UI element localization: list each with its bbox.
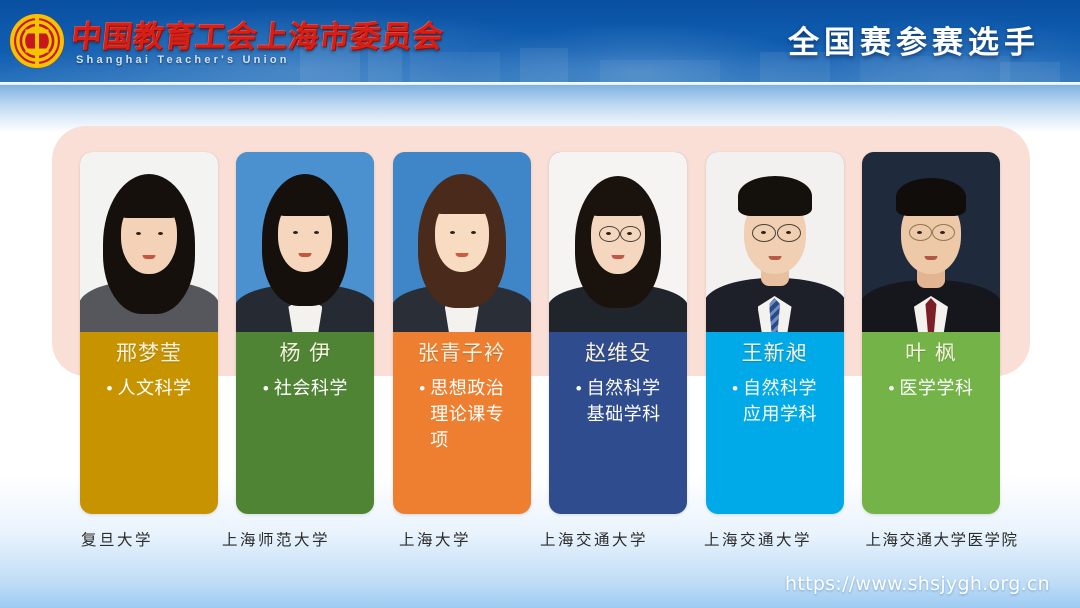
slide-root: 中国教育工会上海市委员会 Shanghai Teacher's Union 全国…	[0, 0, 1080, 608]
bullet-icon: •	[263, 376, 269, 402]
portrait-eye-right	[158, 232, 163, 235]
university-label: 上海交通大学医学院	[842, 528, 1042, 550]
bullet-icon: •	[107, 376, 113, 402]
contestant-card[interactable]: 赵维殳 • 自然科学基础学科	[549, 152, 687, 514]
bullet-icon: •	[732, 376, 738, 402]
footer-website-url[interactable]: https://www.shsjygh.org.cn	[785, 573, 1050, 595]
university-label: 复旦大学	[42, 528, 192, 550]
contestant-category-row: • 社会科学	[259, 376, 352, 402]
portrait-mouth	[612, 255, 625, 259]
portrait-hair-top	[116, 182, 182, 218]
portrait-hair-top	[431, 182, 493, 214]
portrait-hair-top	[274, 182, 336, 216]
skyline-silhouette-8	[1000, 62, 1060, 82]
contestant-photo	[236, 152, 374, 332]
contestant-card[interactable]: 邢梦莹 • 人文科学	[80, 152, 218, 514]
contestant-info: 张青子衿 • 思想政治理论课专项	[393, 332, 531, 514]
bullet-icon: •	[888, 376, 894, 402]
contestant-name: 张青子衿	[418, 341, 506, 365]
portrait-hair-top	[587, 184, 649, 216]
contestant-category-row: • 自然科学应用学科	[728, 376, 821, 428]
union-emblem-svg	[8, 12, 66, 70]
university-label: 上海大学	[360, 528, 510, 550]
portrait-eye-left	[450, 231, 455, 234]
contestant-name: 赵维殳	[585, 341, 651, 365]
portrait-mouth	[455, 253, 468, 257]
skyline-silhouette-5	[600, 60, 720, 82]
contestant-photo	[393, 152, 531, 332]
page-title: 全国赛参赛选手	[788, 17, 1040, 62]
organization-name-en: Shanghai Teacher's Union	[76, 54, 290, 66]
skyline-silhouette-4	[520, 48, 568, 82]
contestant-info: 杨 伊 • 社会科学	[236, 332, 374, 514]
union-emblem-icon	[8, 12, 66, 70]
contestant-photo	[706, 152, 844, 332]
contestant-name: 王新昶	[742, 341, 808, 365]
contestant-name: 杨 伊	[280, 341, 332, 365]
contestant-category-row: • 人文科学	[103, 376, 196, 402]
contestant-name: 叶 枫	[905, 341, 957, 365]
portrait-mouth	[768, 256, 781, 260]
university-label: 上海师范大学	[196, 528, 356, 550]
contestant-category-row: • 思想政治理论课专项	[415, 376, 508, 454]
contestant-info: 王新昶 • 自然科学应用学科	[706, 332, 844, 514]
contestant-category: 自然科学应用学科	[743, 376, 821, 428]
university-label: 上海交通大学	[678, 528, 838, 550]
contestant-photo	[549, 152, 687, 332]
portrait-hair-top	[896, 178, 966, 216]
contestant-category: 社会科学	[274, 376, 352, 402]
portrait-mouth	[299, 253, 312, 257]
portrait-eye-right	[940, 231, 945, 234]
organization-name-cn: 中国教育工会上海市委员会	[70, 14, 446, 54]
bullet-icon: •	[576, 376, 582, 402]
bullet-icon: •	[419, 376, 425, 402]
portrait-hair-top	[738, 176, 812, 216]
portrait-mouth	[143, 255, 156, 259]
contestant-card[interactable]: 叶 枫 • 医学学科	[862, 152, 1000, 514]
contestant-info: 赵维殳 • 自然科学基础学科	[549, 332, 687, 514]
portrait-eye-left	[761, 231, 766, 234]
contestant-category: 自然科学基础学科	[587, 376, 665, 428]
contestant-info: 叶 枫 • 医学学科	[862, 332, 1000, 514]
contestant-name: 邢梦莹	[116, 341, 182, 365]
university-label-list: 复旦大学 上海师范大学 上海大学 上海交通大学 上海交通大学 上海交通大学医学院	[42, 528, 1042, 550]
contestant-photo	[80, 152, 218, 332]
portrait-eye-right	[786, 231, 791, 234]
contestant-card[interactable]: 杨 伊 • 社会科学	[236, 152, 374, 514]
portrait-eye-right	[471, 231, 476, 234]
contestant-card-list: 邢梦莹 • 人文科学 杨 伊	[80, 152, 1000, 514]
skyline-silhouette-3	[410, 52, 500, 82]
contestant-category: 医学学科	[899, 376, 977, 402]
portrait-eye-left	[136, 232, 141, 235]
university-label: 上海交通大学	[514, 528, 674, 550]
portrait-mouth	[924, 256, 937, 260]
contestant-category-row: • 自然科学基础学科	[572, 376, 665, 428]
contestant-photo	[862, 152, 1000, 332]
portrait-eye-left	[917, 231, 922, 234]
contestant-category: 思想政治理论课专项	[430, 376, 508, 454]
contestant-category-row: • 医学学科	[884, 376, 977, 402]
contestant-card[interactable]: 王新昶 • 自然科学应用学科	[706, 152, 844, 514]
contestant-category: 人文科学	[117, 376, 195, 402]
contestant-card[interactable]: 张青子衿 • 思想政治理论课专项	[393, 152, 531, 514]
contestant-info: 邢梦莹 • 人文科学	[80, 332, 218, 514]
